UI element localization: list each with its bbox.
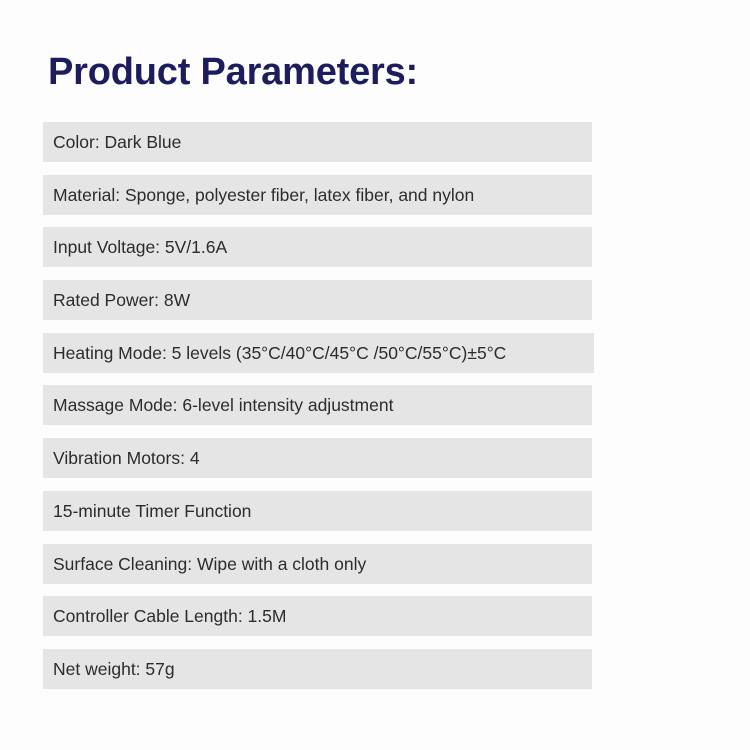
spec-text: Color: Dark Blue	[53, 131, 181, 153]
spec-text: Controller Cable Length: 1.5M	[53, 605, 286, 627]
list-item: Net weight: 57g	[43, 649, 592, 689]
spec-text: Surface Cleaning: Wipe with a cloth only	[53, 553, 366, 575]
list-item: Color: Dark Blue	[43, 122, 592, 162]
list-item: Massage Mode: 6-level intensity adjustme…	[43, 385, 592, 425]
spec-text: Input Voltage: 5V/1.6A	[53, 236, 227, 258]
spec-text: 15-minute Timer Function	[53, 500, 251, 522]
spec-text: Vibration Motors: 4	[53, 447, 200, 469]
list-item: 15-minute Timer Function	[43, 491, 592, 531]
spec-text: Rated Power: 8W	[53, 289, 190, 311]
spec-text: Heating Mode: 5 levels (35°C/40°C/45°C /…	[53, 342, 506, 364]
spec-list: Color: Dark Blue Material: Sponge, polye…	[43, 122, 703, 702]
spec-text: Material: Sponge, polyester fiber, latex…	[53, 184, 474, 206]
list-item: Vibration Motors: 4	[43, 438, 592, 478]
list-item: Input Voltage: 5V/1.6A	[43, 227, 592, 267]
spec-text: Massage Mode: 6-level intensity adjustme…	[53, 394, 393, 416]
product-parameters-page: Product Parameters: Color: Dark Blue Mat…	[0, 0, 750, 750]
list-item: Surface Cleaning: Wipe with a cloth only	[43, 544, 592, 584]
list-item: Rated Power: 8W	[43, 280, 592, 320]
page-title: Product Parameters:	[48, 49, 418, 95]
list-item: Heating Mode: 5 levels (35°C/40°C/45°C /…	[43, 333, 594, 373]
list-item: Material: Sponge, polyester fiber, latex…	[43, 175, 592, 215]
list-item: Controller Cable Length: 1.5M	[43, 596, 592, 636]
spec-text: Net weight: 57g	[53, 658, 175, 680]
